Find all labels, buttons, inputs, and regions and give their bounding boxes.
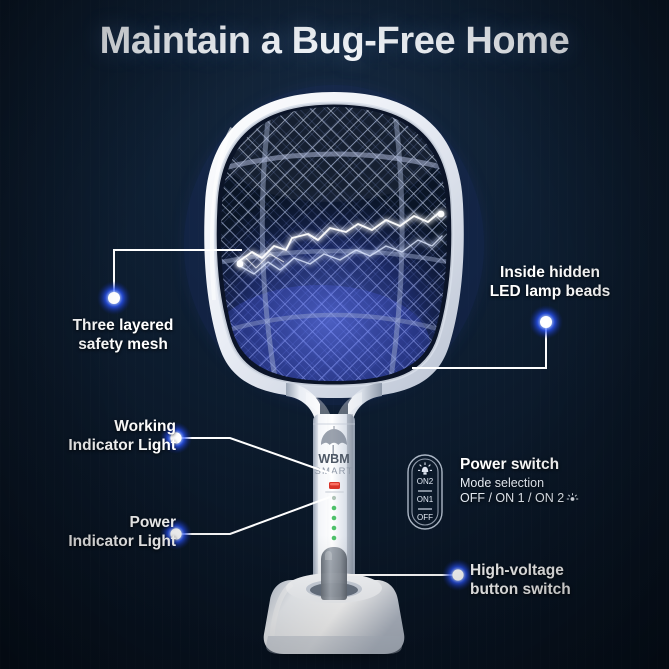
power-switch-modes: OFF / ON 1 / ON 2 <box>460 491 579 505</box>
power-switch-subtitle: Mode selection <box>460 476 579 490</box>
infographic-canvas: WBM SMART <box>0 0 669 669</box>
power-switch-text: Power switch Mode selection OFF / ON 1 /… <box>460 452 579 505</box>
callout-label-high-voltage-button-switch: High-voltage button switch <box>470 561 640 600</box>
power-switch-title: Power switch <box>460 456 579 474</box>
brand-name-primary: WBM <box>318 452 349 466</box>
callout-label-power-indicator-light: Power Indicator Light <box>36 513 176 552</box>
power-switch-modes-text: OFF / ON 1 / ON 2 <box>460 491 564 505</box>
callout-label-working-indicator-light: Working Indicator Light <box>36 417 176 456</box>
racket-head <box>200 90 470 410</box>
sun-icon <box>566 492 579 505</box>
lightbulb-icon <box>418 462 432 474</box>
page-title: Maintain a Bug-Free Home <box>0 20 669 63</box>
power-switch-diagram: ON2 ON1 OFF <box>404 452 446 532</box>
power-switch-callout: ON2 ON1 OFF Power switch Mode selection … <box>404 452 579 532</box>
switch-position-on2: ON2 <box>417 477 434 486</box>
callout-label-three-layered-safety-mesh: Three layered safety mesh <box>48 316 198 355</box>
callout-label-inside-hidden-led-lamp-beads: Inside hidden LED lamp beads <box>470 263 630 302</box>
brand-name-secondary: SMART <box>314 466 353 477</box>
switch-position-off: OFF <box>417 513 433 522</box>
switch-position-on1: ON1 <box>417 495 434 504</box>
